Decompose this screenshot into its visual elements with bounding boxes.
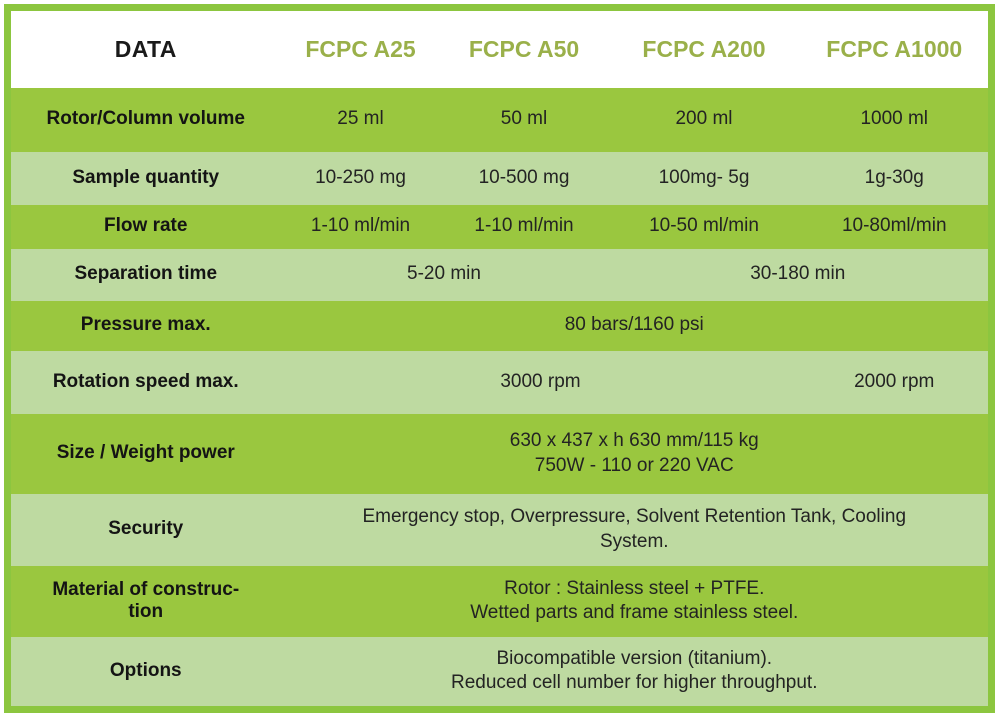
- column-header-fcpc-a200: FCPC A200: [608, 8, 801, 88]
- table-row: Options Biocompatible version (titanium)…: [8, 637, 992, 710]
- table-row: Security Emergency stop, Overpressure, S…: [8, 494, 992, 566]
- cell-text-line-1: Biocompatible version (titanium).: [281, 647, 989, 671]
- cell-sample-quantity-a25: 10-250 mg: [281, 152, 441, 205]
- row-label-options: Options: [8, 637, 281, 710]
- cell-sample-quantity-a200: 100mg- 5g: [608, 152, 801, 205]
- table-row: Material of construc- tion Rotor : Stain…: [8, 566, 992, 637]
- table-row: Pressure max. 80 bars/1160 psi: [8, 301, 992, 351]
- cell-size-weight-power-all: 630 x 437 x h 630 mm/115 kg 750W - 110 o…: [281, 414, 992, 494]
- cell-text-line-1: Rotor : Stainless steel + PTFE.: [281, 577, 989, 601]
- column-header-fcpc-a1000: FCPC A1000: [801, 8, 992, 88]
- row-label-flow-rate: Flow rate: [8, 205, 281, 249]
- table-row: Flow rate 1-10 ml/min 1-10 ml/min 10-50 …: [8, 205, 992, 249]
- cell-flow-rate-a200: 10-50 ml/min: [608, 205, 801, 249]
- cell-options-all: Biocompatible version (titanium). Reduce…: [281, 637, 992, 710]
- fcpc-specifications-table: DATA FCPC A25 FCPC A50 FCPC A200 FCPC A1…: [4, 4, 995, 713]
- cell-separation-time-a200-a1000: 30-180 min: [608, 249, 992, 301]
- table-row: Separation time 5-20 min 30-180 min: [8, 249, 992, 301]
- spec-table-container: DATA FCPC A25 FCPC A50 FCPC A200 FCPC A1…: [0, 0, 1000, 704]
- table-row: Rotation speed max. 3000 rpm 2000 rpm: [8, 351, 992, 414]
- row-label-material-of-construction: Material of construc- tion: [8, 566, 281, 637]
- cell-text-line-1: Emergency stop, Overpressure, Solvent Re…: [281, 505, 989, 529]
- cell-material-of-construction-all: Rotor : Stainless steel + PTFE. Wetted p…: [281, 566, 992, 637]
- cell-flow-rate-a1000: 10-80ml/min: [801, 205, 992, 249]
- row-label-line-2: tion: [11, 601, 281, 623]
- row-label-pressure-max: Pressure max.: [8, 301, 281, 351]
- cell-text-line-2: 750W - 110 or 220 VAC: [281, 454, 989, 478]
- table-header-row: DATA FCPC A25 FCPC A50 FCPC A200 FCPC A1…: [8, 8, 992, 88]
- cell-text-line-2: System.: [281, 530, 989, 554]
- table-row: Rotor/Column volume 25 ml 50 ml 200 ml 1…: [8, 88, 992, 152]
- row-label-rotor-column-volume: Rotor/Column volume: [8, 88, 281, 152]
- cell-pressure-max-all: 80 bars/1160 psi: [281, 301, 992, 351]
- cell-security-all: Emergency stop, Overpressure, Solvent Re…: [281, 494, 992, 566]
- column-header-fcpc-a25: FCPC A25: [281, 8, 441, 88]
- cell-rotation-speed-a1000: 2000 rpm: [801, 351, 992, 414]
- cell-rotor-volume-a1000: 1000 ml: [801, 88, 992, 152]
- cell-rotor-volume-a50: 50 ml: [441, 88, 608, 152]
- cell-separation-time-a25-a50: 5-20 min: [281, 249, 608, 301]
- cell-text-line-2: Wetted parts and frame stainless steel.: [281, 601, 989, 625]
- cell-flow-rate-a25: 1-10 ml/min: [281, 205, 441, 249]
- row-label-size-weight-power: Size / Weight power: [8, 414, 281, 494]
- row-label-sample-quantity: Sample quantity: [8, 152, 281, 205]
- cell-text-line-2: Reduced cell number for higher throughpu…: [281, 671, 989, 695]
- column-header-fcpc-a50: FCPC A50: [441, 8, 608, 88]
- row-label-line-1: Material of construc-: [11, 579, 281, 601]
- cell-rotor-volume-a25: 25 ml: [281, 88, 441, 152]
- row-label-rotation-speed-max: Rotation speed max.: [8, 351, 281, 414]
- cell-rotation-speed-a25-a200: 3000 rpm: [281, 351, 801, 414]
- cell-flow-rate-a50: 1-10 ml/min: [441, 205, 608, 249]
- cell-text-line-1: 630 x 437 x h 630 mm/115 kg: [281, 429, 989, 453]
- cell-sample-quantity-a1000: 1g-30g: [801, 152, 992, 205]
- row-label-security: Security: [8, 494, 281, 566]
- row-label-separation-time: Separation time: [8, 249, 281, 301]
- cell-rotor-volume-a200: 200 ml: [608, 88, 801, 152]
- column-header-data: DATA: [8, 8, 281, 88]
- table-row: Size / Weight power 630 x 437 x h 630 mm…: [8, 414, 992, 494]
- table-row: Sample quantity 10-250 mg 10-500 mg 100m…: [8, 152, 992, 205]
- cell-sample-quantity-a50: 10-500 mg: [441, 152, 608, 205]
